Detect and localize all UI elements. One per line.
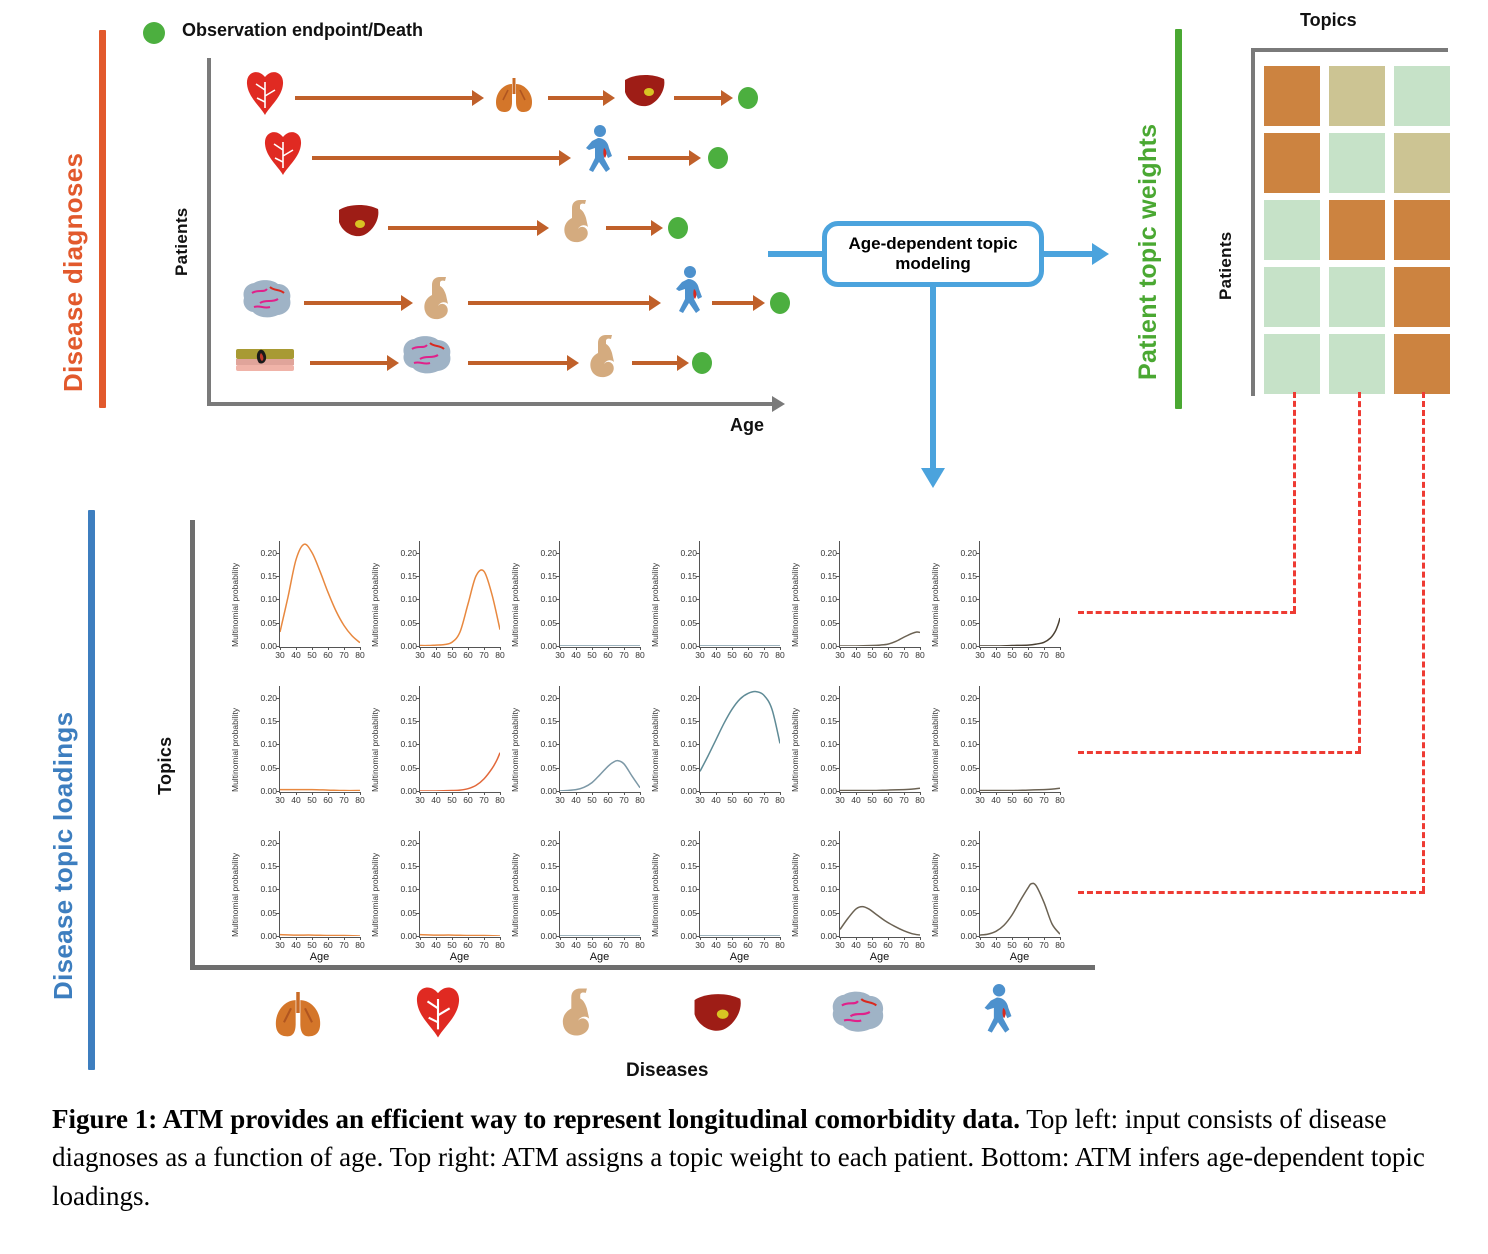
panel-y-tick: 0.20 (523, 548, 557, 558)
panel-x-tick-mark (296, 937, 297, 940)
panel-curve (700, 541, 780, 646)
panel-x-tick-mark (764, 937, 765, 940)
panel-curve (420, 831, 500, 936)
panel-x-tick: 30 (695, 940, 704, 950)
panel-x-tick: 70 (899, 795, 908, 805)
panel-y-tick: 0.05 (243, 908, 277, 918)
panel-x-tick: 70 (479, 940, 488, 950)
panel-x-tick-mark (360, 647, 361, 650)
panel-x-tick-mark (420, 792, 421, 795)
panel-y-axis-label: Multinomial probability (650, 829, 660, 937)
heart-icon (262, 130, 304, 183)
connector-column-3 (1422, 392, 1425, 892)
panel-x-tick: 50 (447, 650, 456, 660)
panel-x-tick-mark (312, 937, 313, 940)
panel-y-axis-label: Multinomial probability (650, 539, 660, 647)
panel-x-tick: 60 (603, 650, 612, 660)
panel-y-tick: 0.15 (383, 716, 417, 726)
heatmap-cell-r2-c2 (1329, 133, 1385, 193)
panel-x-tick: 70 (479, 795, 488, 805)
patient-trajectory-row (240, 275, 760, 331)
heatmap-cell-r2-c1 (1264, 133, 1320, 193)
panel-x-tick: 50 (307, 940, 316, 950)
patient-topic-weights-section-bar (1175, 29, 1182, 409)
panel-x-tick-mark (920, 792, 921, 795)
panel-x-tick: 30 (275, 795, 284, 805)
panel-x-tick: 50 (727, 940, 736, 950)
panel-x-tick: 80 (775, 650, 784, 660)
panel-x-axis-label: Age (279, 951, 360, 963)
panel-y-tick: 0.05 (243, 763, 277, 773)
panel-x-tick-mark (484, 792, 485, 795)
loading-panel-topic2-disease6: Multinomial probability0.000.050.100.150… (928, 678, 1068, 823)
endpoint-dot-icon (668, 217, 688, 239)
panel-x-tick: 70 (479, 650, 488, 660)
process-output-arrow (1044, 251, 1096, 257)
age-axis-label-top: Age (730, 415, 764, 436)
panel-x-tick-mark (1060, 937, 1061, 940)
panel-x-axis-label: Age (419, 951, 500, 963)
panel-x-spine (699, 792, 780, 793)
panel-y-tick: 0.20 (243, 838, 277, 848)
disease-diagnoses-section-bar (99, 30, 106, 408)
panel-x-axis-label: Age (979, 951, 1060, 963)
panel-y-tick: 0.15 (943, 716, 977, 726)
panel-x-tick: 70 (339, 650, 348, 660)
panel-x-tick: 40 (431, 650, 440, 660)
panel-y-axis-label: Multinomial probability (790, 539, 800, 647)
panel-x-tick-mark (856, 792, 857, 795)
walking-person-icon (928, 982, 1068, 1044)
panel-y-tick: 0.20 (383, 838, 417, 848)
panel-x-tick: 80 (775, 940, 784, 950)
stomach-icon (418, 273, 458, 330)
patients-axis-label-heatmap: Patients (1216, 210, 1236, 300)
panel-x-tick-mark (716, 792, 717, 795)
panel-y-tick: 0.05 (803, 908, 837, 918)
heart-icon (368, 982, 508, 1044)
panel-y-tick: 0.10 (943, 594, 977, 604)
trajectory-arrow (674, 96, 722, 100)
endpoint-dot-icon (738, 87, 758, 109)
panel-x-tick: 80 (915, 795, 924, 805)
heatmap-x-axis (1251, 48, 1448, 52)
panel-x-tick-mark (920, 647, 921, 650)
panel-curve (840, 686, 920, 791)
panel-x-tick-mark (1012, 937, 1013, 940)
panel-x-tick: 60 (323, 940, 332, 950)
panel-x-tick: 50 (587, 940, 596, 950)
diseases-axis-label: Diseases (626, 1060, 708, 1082)
panel-x-tick: 40 (711, 650, 720, 660)
panel-x-tick-mark (436, 792, 437, 795)
diagnoses-x-axis (207, 402, 777, 406)
disease-topic-loadings-section-label: Disease topic loadings (48, 590, 79, 1000)
trajectory-arrow (606, 226, 652, 230)
panel-x-tick-mark (980, 937, 981, 940)
panel-x-axis-label: Age (559, 951, 640, 963)
patient-topic-weight-heatmap (1264, 66, 1450, 394)
stomach-icon (508, 982, 648, 1044)
panel-x-tick: 30 (835, 940, 844, 950)
panel-x-tick-mark (980, 792, 981, 795)
panel-y-tick: 0.00 (383, 931, 417, 941)
loading-panel-topic1-disease3: Multinomial probability0.000.050.100.150… (508, 533, 648, 678)
topics-axis-label-top: Topics (1300, 10, 1357, 31)
panel-y-axis-label: Multinomial probability (370, 684, 380, 792)
panel-y-tick: 0.10 (383, 739, 417, 749)
panel-y-tick: 0.05 (523, 763, 557, 773)
trajectory-arrow (628, 156, 690, 160)
loading-panel-topic2-disease4: Multinomial probability0.000.050.100.150… (648, 678, 788, 823)
panel-x-tick: 50 (587, 795, 596, 805)
panel-y-tick: 0.20 (803, 548, 837, 558)
panel-y-tick: 0.10 (523, 739, 557, 749)
panel-x-tick: 80 (775, 795, 784, 805)
panel-x-tick-mark (700, 937, 701, 940)
walking-person-icon (578, 124, 620, 187)
trajectory-arrow (468, 301, 650, 305)
panel-x-tick-mark (344, 647, 345, 650)
panel-x-spine (559, 647, 640, 648)
panel-y-tick: 0.15 (663, 716, 697, 726)
panel-y-tick: 0.15 (243, 861, 277, 871)
stomach-icon (558, 196, 598, 253)
loading-panel-topic3-disease4: Multinomial probability0.000.050.100.150… (648, 823, 788, 968)
panel-x-tick-mark (700, 647, 701, 650)
panel-curve (420, 541, 500, 646)
panel-x-tick-mark (608, 792, 609, 795)
panel-x-spine (979, 792, 1060, 793)
panel-curve (560, 541, 640, 646)
lungs-icon (490, 70, 538, 123)
disease-topic-loadings-section-bar (88, 510, 95, 1070)
panel-x-spine (979, 647, 1060, 648)
panel-x-spine (839, 647, 920, 648)
panel-y-tick: 0.20 (943, 838, 977, 848)
brain-icon (240, 277, 294, 328)
trajectory-arrow (304, 301, 402, 305)
panel-x-tick: 80 (355, 650, 364, 660)
panel-x-tick-mark (592, 647, 593, 650)
panel-x-axis-label: Age (839, 951, 920, 963)
disease-icon-row (228, 982, 1068, 1044)
heatmap-cell-r5-c1 (1264, 334, 1320, 394)
endpoint-dot-icon (770, 292, 790, 314)
panel-x-tick-mark (856, 937, 857, 940)
panel-x-tick-mark (700, 792, 701, 795)
panel-x-tick-mark (344, 937, 345, 940)
panel-y-axis-label: Multinomial probability (510, 829, 520, 937)
panel-y-tick: 0.15 (803, 861, 837, 871)
panel-x-tick: 30 (695, 795, 704, 805)
liver-icon (336, 200, 382, 249)
trajectory-arrow (388, 226, 538, 230)
panel-x-tick: 60 (883, 940, 892, 950)
heatmap-cell-r4-c2 (1329, 267, 1385, 327)
brain-icon (400, 333, 454, 384)
loading-panel-topic2-disease1: Multinomial probability0.000.050.100.150… (228, 678, 368, 823)
panel-x-tick-mark (452, 792, 453, 795)
panel-x-tick-mark (484, 937, 485, 940)
panel-x-tick: 60 (883, 795, 892, 805)
panel-x-tick: 30 (975, 650, 984, 660)
panel-x-tick-mark (716, 937, 717, 940)
panel-x-tick-mark (888, 937, 889, 940)
panel-curve (980, 541, 1060, 646)
panel-x-tick-mark (716, 647, 717, 650)
panel-x-tick-mark (452, 937, 453, 940)
panel-y-axis-label: Multinomial probability (510, 539, 520, 647)
panel-x-tick-mark (436, 937, 437, 940)
panel-y-tick: 0.00 (663, 931, 697, 941)
loading-panel-topic3-disease6: Multinomial probability0.000.050.100.150… (928, 823, 1068, 968)
panel-x-spine (419, 792, 500, 793)
panel-x-tick-mark (484, 647, 485, 650)
loading-panel-topic1-disease4: Multinomial probability0.000.050.100.150… (648, 533, 788, 678)
panel-x-tick-mark (328, 647, 329, 650)
panel-y-tick: 0.05 (383, 908, 417, 918)
liver-icon (622, 70, 668, 117)
panel-x-tick: 50 (867, 940, 876, 950)
panel-x-tick-mark (500, 647, 501, 650)
panel-x-tick-mark (780, 792, 781, 795)
panel-y-tick: 0.00 (803, 641, 837, 651)
panel-x-spine (979, 937, 1060, 938)
patient-trajectory-row (240, 200, 760, 256)
panel-x-tick-mark (996, 937, 997, 940)
panel-x-tick-mark (468, 937, 469, 940)
panel-y-tick: 0.10 (243, 884, 277, 894)
panel-y-tick: 0.20 (243, 548, 277, 558)
panel-curve (700, 831, 780, 936)
panel-x-tick: 60 (1023, 795, 1032, 805)
panel-y-tick: 0.00 (943, 931, 977, 941)
panel-x-tick-mark (280, 792, 281, 795)
panel-x-tick: 40 (291, 940, 300, 950)
panel-y-tick: 0.10 (663, 884, 697, 894)
panel-x-tick: 30 (975, 940, 984, 950)
panel-x-tick: 40 (851, 795, 860, 805)
panel-x-spine (839, 792, 920, 793)
endpoint-dot-icon (708, 147, 728, 169)
panel-x-tick-mark (360, 792, 361, 795)
panel-y-tick: 0.00 (383, 786, 417, 796)
panel-y-tick: 0.00 (803, 786, 837, 796)
panel-x-tick-mark (764, 647, 765, 650)
panel-y-axis-label: Multinomial probability (790, 684, 800, 792)
panel-y-tick: 0.10 (523, 594, 557, 604)
panel-x-tick-mark (888, 647, 889, 650)
panel-y-tick: 0.00 (523, 931, 557, 941)
panel-y-tick: 0.15 (803, 716, 837, 726)
panel-x-tick-mark (1028, 647, 1029, 650)
panel-x-tick-mark (500, 937, 501, 940)
panel-x-tick-mark (904, 937, 905, 940)
panel-x-tick-mark (920, 937, 921, 940)
panel-x-tick: 30 (415, 650, 424, 660)
panel-x-tick: 70 (759, 940, 768, 950)
panel-x-tick-mark (1060, 792, 1061, 795)
panel-x-tick: 30 (415, 940, 424, 950)
patient-topic-weights-section-label: Patient topic weights (1134, 80, 1163, 380)
panel-x-tick: 70 (1039, 940, 1048, 950)
liver-icon (648, 982, 788, 1044)
patient-trajectory-row (240, 130, 760, 186)
panel-x-tick: 60 (883, 650, 892, 660)
disease-diagnoses-section-label: Disease diagnoses (58, 62, 89, 392)
panel-curve (280, 831, 360, 936)
process-down-arrow (930, 287, 936, 472)
panel-y-tick: 0.20 (663, 693, 697, 703)
panel-curve (840, 831, 920, 936)
panel-x-tick-mark (312, 647, 313, 650)
panel-x-tick: 50 (1007, 940, 1016, 950)
panel-x-tick: 40 (991, 940, 1000, 950)
panel-y-tick: 0.10 (383, 884, 417, 894)
panel-x-tick-mark (576, 792, 577, 795)
panel-x-tick: 80 (355, 940, 364, 950)
panel-y-axis-label: Multinomial probability (230, 684, 240, 792)
panel-x-tick-mark (624, 937, 625, 940)
loading-panel-topic3-disease3: Multinomial probability0.000.050.100.150… (508, 823, 648, 968)
panel-x-tick-mark (280, 937, 281, 940)
brain-icon (788, 982, 928, 1044)
panel-x-tick: 50 (1007, 650, 1016, 660)
process-input-arrow (768, 251, 826, 257)
panel-x-tick: 80 (495, 650, 504, 660)
panel-x-tick-mark (452, 647, 453, 650)
panel-x-tick-mark (624, 792, 625, 795)
heatmap-cell-r5-c3 (1394, 334, 1450, 394)
panel-x-tick: 60 (743, 795, 752, 805)
panel-x-spine (559, 792, 640, 793)
panel-x-tick-mark (780, 937, 781, 940)
panel-y-axis-label: Multinomial probability (510, 684, 520, 792)
panel-x-tick: 60 (323, 650, 332, 660)
panel-curve (280, 541, 360, 646)
panel-x-tick: 80 (495, 795, 504, 805)
panel-x-tick: 40 (571, 795, 580, 805)
panel-x-tick-mark (872, 937, 873, 940)
panel-x-tick-mark (1044, 647, 1045, 650)
green-circle-icon (143, 22, 165, 44)
panel-y-tick: 0.15 (523, 571, 557, 581)
panel-x-tick-mark (1060, 647, 1061, 650)
panel-x-tick-mark (1028, 937, 1029, 940)
panel-x-tick-mark (996, 792, 997, 795)
panel-x-tick: 60 (463, 940, 472, 950)
panel-x-tick-mark (732, 792, 733, 795)
panel-x-tick: 40 (711, 940, 720, 950)
panel-x-tick: 60 (743, 940, 752, 950)
heatmap-cell-r1-c1 (1264, 66, 1320, 126)
loading-panel-topic3-disease1: Multinomial probability0.000.050.100.150… (228, 823, 368, 968)
panel-y-tick: 0.20 (523, 693, 557, 703)
panel-x-tick: 50 (867, 650, 876, 660)
panel-x-tick: 60 (323, 795, 332, 805)
panel-y-tick: 0.20 (523, 838, 557, 848)
panel-x-tick: 70 (759, 795, 768, 805)
panel-y-tick: 0.05 (523, 908, 557, 918)
panel-x-tick: 50 (587, 650, 596, 660)
panel-x-tick: 70 (899, 940, 908, 950)
heatmap-cell-r3-c2 (1329, 200, 1385, 260)
panel-x-spine (279, 937, 360, 938)
panel-y-tick: 0.20 (663, 548, 697, 558)
panel-x-tick: 80 (915, 650, 924, 660)
diagnoses-x-axis-arrowhead (772, 396, 785, 412)
panel-y-tick: 0.10 (243, 739, 277, 749)
panel-y-tick: 0.10 (383, 594, 417, 604)
panel-curve (420, 686, 500, 791)
panel-x-tick-mark (592, 937, 593, 940)
patient-trajectory-row (240, 335, 760, 391)
panel-x-tick: 30 (555, 650, 564, 660)
loading-panel-topic3-disease5: Multinomial probability0.000.050.100.150… (788, 823, 928, 968)
connector-column-3 (1078, 891, 1425, 894)
patients-axis-label-top: Patients (172, 186, 192, 276)
panel-x-tick-mark (500, 792, 501, 795)
topics-axis-label-bottom: Topics (155, 705, 176, 795)
panel-x-tick-mark (296, 792, 297, 795)
panel-x-tick: 50 (727, 795, 736, 805)
connector-column-1 (1293, 392, 1296, 612)
loading-panel-topic1-disease2: Multinomial probability0.000.050.100.150… (368, 533, 508, 678)
panel-x-tick-mark (764, 792, 765, 795)
panel-x-tick: 40 (571, 940, 580, 950)
panel-x-tick: 40 (431, 795, 440, 805)
panel-x-tick: 80 (635, 795, 644, 805)
panel-x-tick: 30 (835, 650, 844, 660)
panel-y-tick: 0.05 (523, 618, 557, 628)
panel-x-tick: 70 (759, 650, 768, 660)
panel-x-tick-mark (780, 647, 781, 650)
panel-x-tick: 30 (555, 795, 564, 805)
panel-x-tick: 80 (1055, 795, 1064, 805)
caption-bold: Figure 1: ATM provides an efficient way … (52, 1104, 1020, 1134)
panel-x-tick: 70 (619, 650, 628, 660)
panel-x-tick: 60 (463, 795, 472, 805)
panel-x-tick: 50 (867, 795, 876, 805)
panel-y-tick: 0.10 (663, 594, 697, 604)
panel-x-tick: 40 (991, 650, 1000, 660)
panel-y-tick: 0.15 (663, 861, 697, 871)
panel-x-tick-mark (608, 937, 609, 940)
panel-y-tick: 0.05 (803, 763, 837, 773)
panel-y-tick: 0.05 (383, 618, 417, 628)
panel-y-tick: 0.15 (383, 571, 417, 581)
heatmap-cell-r3-c3 (1394, 200, 1450, 260)
panel-y-tick: 0.15 (243, 571, 277, 581)
panel-y-tick: 0.00 (243, 641, 277, 651)
panel-y-tick: 0.20 (943, 548, 977, 558)
panel-x-tick: 50 (447, 795, 456, 805)
heatmap-y-axis (1251, 48, 1255, 396)
loading-panel-topic2-disease3: Multinomial probability0.000.050.100.150… (508, 678, 648, 823)
panel-curve (840, 541, 920, 646)
panel-x-tick-mark (420, 647, 421, 650)
panel-x-tick-mark (840, 937, 841, 940)
panel-x-tick: 60 (1023, 650, 1032, 660)
panel-y-axis-label: Multinomial probability (790, 829, 800, 937)
panel-x-tick: 70 (619, 795, 628, 805)
panel-x-tick-mark (328, 792, 329, 795)
panel-y-tick: 0.15 (943, 571, 977, 581)
panel-x-tick: 40 (851, 940, 860, 950)
panel-y-tick: 0.20 (803, 838, 837, 848)
panel-x-tick-mark (468, 647, 469, 650)
